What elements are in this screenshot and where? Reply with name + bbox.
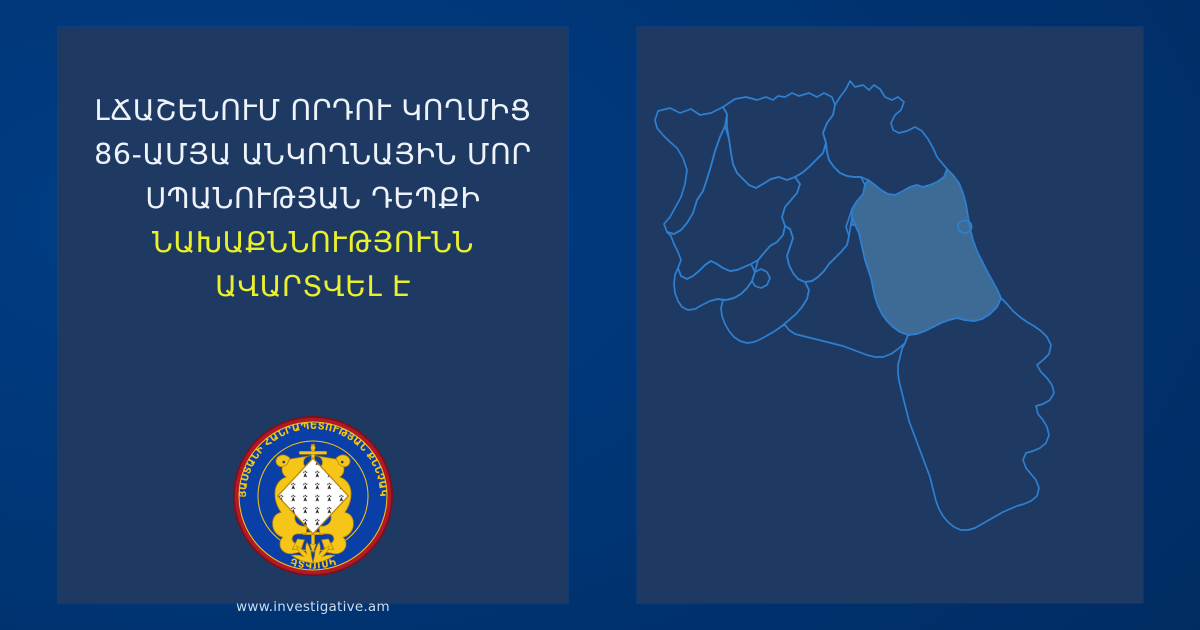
province-gegharkunik-highlighted <box>852 169 1001 335</box>
armenia-map <box>637 27 1143 603</box>
province-syunik <box>898 298 1054 530</box>
province-armavir <box>674 261 755 310</box>
map-panel <box>637 27 1143 603</box>
poster-canvas: ԼՃԱՇԵՆՈՒՄ ՈՐԴՈՒ ԿՈՂՄԻՑ 86-ԱՄՅԱ ԱՆԿՈՂՆԱՅԻ… <box>0 0 1200 630</box>
left-content-panel: ԼՃԱՇԵՆՈՒՄ ՈՐԴՈՒ ԿՈՂՄԻՑ 86-ԱՄՅԱ ԱՆԿՈՂՆԱՅԻ… <box>58 27 568 603</box>
headline-line-2: 86-ԱՄՅԱ ԱՆԿՈՂՆԱՅԻՆ ՄՈՐ <box>72 133 554 177</box>
headline-line-1: ԼՃԱՇԵՆՈՒՄ ՈՐԴՈՒ ԿՈՂՄԻՑ <box>72 89 554 133</box>
headline-line-4: ՆԱԽԱՔՆՆՈՒԹՅՈՒՆՆ <box>72 221 554 265</box>
headline-block: ԼՃԱՇԵՆՈՒՄ ՈՐԴՈՒ ԿՈՂՄԻՑ 86-ԱՄՅԱ ԱՆԿՈՂՆԱՅԻ… <box>58 89 568 309</box>
site-url-label: www.investigative.am <box>58 599 568 615</box>
investigative-committee-emblem: ՀԱՅԱՍՏԱՆԻ ՀԱՆՐԱՊԵՏՈՒԹՅԱՆ ՔՆՆՉԱԿԱՆ ԿՈՄԻՏԵ <box>227 410 399 582</box>
headline-line-3: ՍՊԱՆՈՒԹՅԱՆ ԴԵՊՔԻ <box>72 177 554 221</box>
province-ararat <box>718 226 809 343</box>
province-yerevan <box>752 269 770 288</box>
province-tavush <box>823 81 947 195</box>
province-lori <box>723 93 835 188</box>
province-aragatsotn <box>667 126 800 279</box>
headline-line-5: ԱՎԱՐՏՎԵԼ Է <box>72 265 554 309</box>
